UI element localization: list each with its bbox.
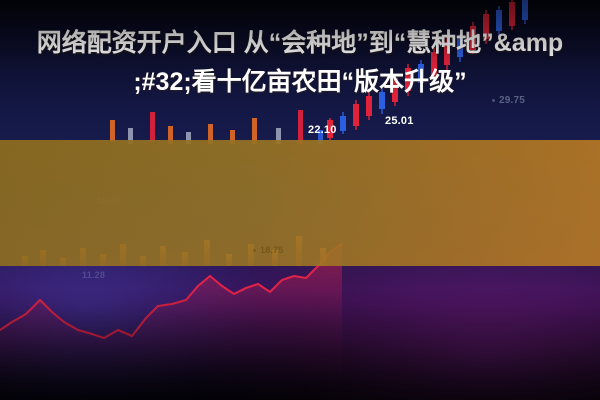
- vignette-overlay: [0, 0, 600, 400]
- banner-stage: 10.07 22.10 25.01 29.75 18.75 11.28 网络配资…: [0, 0, 600, 400]
